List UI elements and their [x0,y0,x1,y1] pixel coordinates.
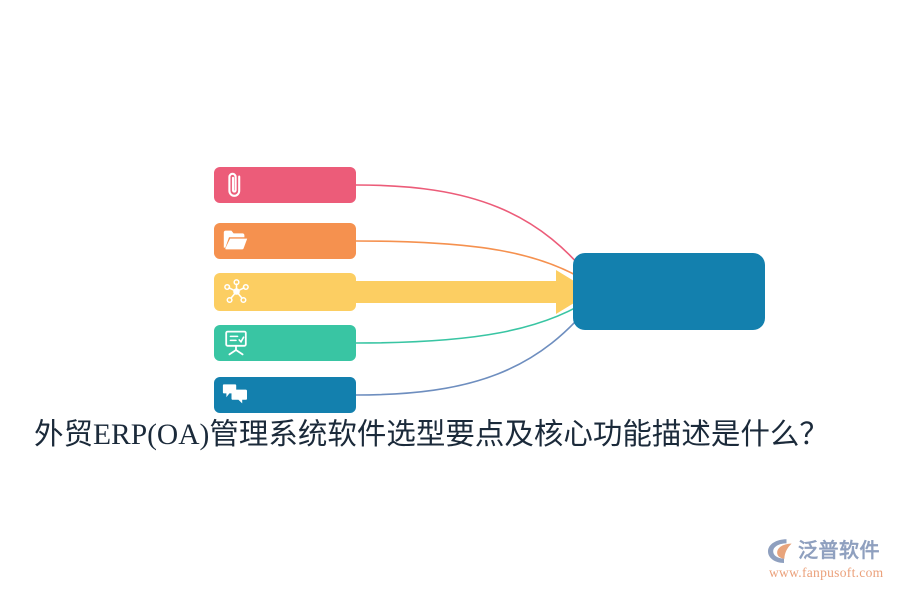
flow-item-attachment[interactable] [214,167,356,203]
flow-item-presentation[interactable] [214,325,356,361]
watermark-logo: 泛普软件 www.fanpusoft.com [765,536,893,588]
converging-flow-diagram [0,0,900,600]
page-title: 外贸ERP(OA)管理系统软件选型要点及核心功能描述是什么？ [34,414,874,456]
fanpu-logo-mark-icon [765,537,795,565]
connector-network-arrow [356,270,592,314]
flow-item-messages[interactable] [214,377,356,413]
logo-brand-name: 泛普软件 [798,539,880,563]
connector-attachment [356,185,598,288]
logo-url: www.fanpusoft.com [769,565,883,581]
flow-item-network[interactable] [214,273,356,311]
screenshot-canvas: 外贸ERP(OA)管理系统软件选型要点及核心功能描述是什么？ 泛普软件 www.… [0,0,900,600]
hub-node[interactable] [573,253,765,330]
logo-row: 泛普软件 [765,536,880,566]
flow-item-documents[interactable] [214,223,356,259]
